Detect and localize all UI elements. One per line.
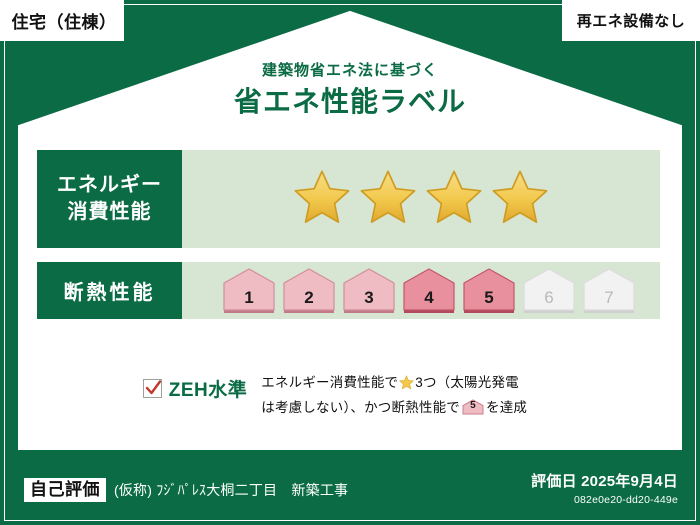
zeh-desc-part1: エネルギー消費性能で — [261, 375, 398, 390]
renewable-status-tab: 再エネ設備なし — [562, 0, 700, 41]
insulation-level-value: 5 — [462, 288, 516, 308]
insulation-level-value: 1 — [222, 288, 276, 308]
footer-bar: 自己評価 (仮称) ﾌｼﾞﾊﾟﾚｽ大桐二丁目 新築工事 評価日 2025年9月4… — [0, 455, 700, 525]
insulation-level-value: 4 — [402, 288, 456, 308]
zeh-description: エネルギー消費性能で3つ（太陽光発電は考慮しない）、かつ断熱性能で5を達成 — [261, 372, 557, 419]
insulation-level-badge: 5 — [462, 268, 516, 314]
insulation-level-scale: 1234567 — [222, 268, 636, 314]
insulation-level-value: 2 — [282, 288, 336, 308]
evaluation-type-badge: 自己評価 — [24, 478, 106, 502]
energy-label-line1: エネルギー — [57, 172, 162, 199]
zeh-tag: ZEH水準 — [143, 372, 248, 402]
zeh-tag-label: ZEH水準 — [169, 375, 248, 402]
star-rating — [293, 168, 549, 231]
energy-performance-value — [182, 150, 660, 248]
insulation-performance-label: 断熱性能 — [37, 262, 182, 319]
energy-performance-label: 住宅（住棟） 再エネ設備なし 建築物省エネ法に基づく 省エネ性能ラベル エネルギ… — [0, 0, 700, 525]
footer-right: 評価日 2025年9月4日 082e0e20-dd20-449e — [531, 473, 678, 507]
star-icon — [491, 168, 549, 231]
insulation-level-badge: 6 — [522, 268, 576, 314]
insulation-level-inline-badge: 5 — [462, 399, 484, 415]
insulation-level-value: 3 — [342, 288, 396, 308]
star-icon — [399, 378, 414, 393]
checked-checkbox-icon — [143, 379, 162, 398]
zeh-desc-part3: を達成 — [486, 400, 527, 415]
inline-badge-value: 5 — [462, 398, 484, 414]
star-icon — [425, 168, 483, 231]
insulation-level-badge: 7 — [582, 268, 636, 314]
insulation-performance-value: 1234567 — [182, 262, 660, 319]
star-icon — [293, 168, 351, 231]
insulation-level-badge: 4 — [402, 268, 456, 314]
footer-left: 自己評価 (仮称) ﾌｼﾞﾊﾟﾚｽ大桐二丁目 新築工事 — [24, 478, 348, 502]
page-title: 建築物省エネ法に基づく 省エネ性能ラベル — [0, 62, 700, 119]
energy-performance-row: エネルギー 消費性能 — [37, 150, 660, 248]
zeh-desc-stars: 3つ（太陽光発電 — [415, 375, 519, 390]
evaluation-id: 082e0e20-dd20-449e — [531, 494, 678, 507]
evaluation-date: 評価日 2025年9月4日 — [531, 473, 678, 492]
heading-title: 省エネ性能ラベル — [0, 84, 700, 119]
insulation-level-badge: 1 — [222, 268, 276, 314]
zeh-standard-note: ZEH水準 エネルギー消費性能で3つ（太陽光発電は考慮しない）、かつ断熱性能で5… — [0, 372, 700, 419]
insulation-level-value: 7 — [582, 288, 636, 308]
heading-subtitle: 建築物省エネ法に基づく — [0, 62, 700, 80]
project-name: (仮称) ﾌｼﾞﾊﾟﾚｽ大桐二丁目 新築工事 — [114, 480, 348, 500]
energy-performance-label: エネルギー 消費性能 — [37, 150, 182, 248]
insulation-level-badge: 3 — [342, 268, 396, 314]
star-icon — [359, 168, 417, 231]
energy-label-line2: 消費性能 — [68, 199, 152, 226]
insulation-level-value: 6 — [522, 288, 576, 308]
zeh-desc-part2: は考慮しない）、かつ断熱性能で — [261, 400, 460, 415]
building-type-tab: 住宅（住棟） — [0, 0, 124, 41]
insulation-level-badge: 2 — [282, 268, 336, 314]
insulation-label-text: 断熱性能 — [64, 276, 156, 305]
insulation-performance-row: 断熱性能 1234567 — [37, 262, 660, 319]
